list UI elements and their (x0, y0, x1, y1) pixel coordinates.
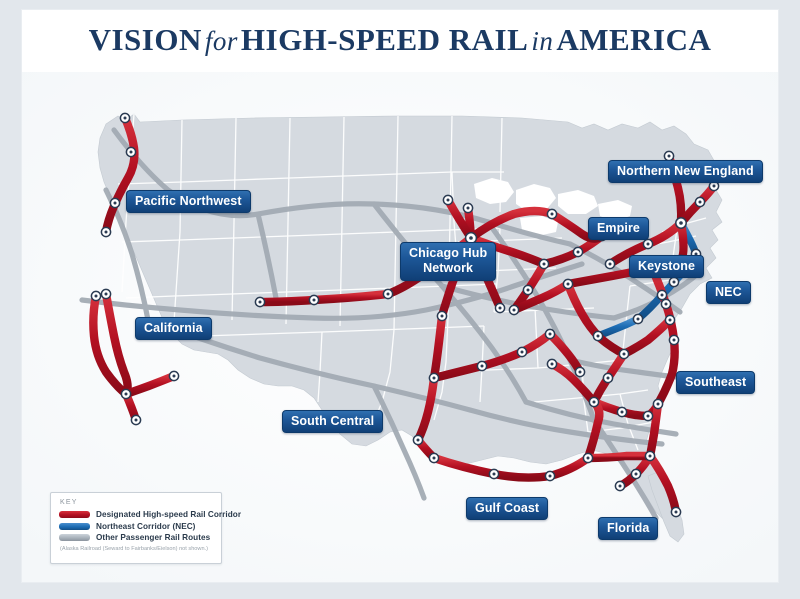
legend-swatch-red-icon (59, 511, 90, 518)
title-word-highspeedrail: HIGH-SPEED RAIL (241, 22, 528, 57)
legend-label-other: Other Passenger Rail Routes (96, 533, 210, 542)
corridor-label-gulf-coast[interactable]: Gulf Coast (466, 497, 548, 520)
map-legend: KEY Designated High-speed Rail Corridor … (50, 492, 222, 564)
title-word-for: for (202, 26, 241, 56)
corridor-label-south-central[interactable]: South Central (282, 410, 383, 433)
legend-row-hsr: Designated High-speed Rail Corridor (59, 510, 214, 519)
corridor-label-empire[interactable]: Empire (588, 217, 649, 240)
legend-heading: KEY (60, 499, 214, 506)
title-bar: VISIONforHIGH-SPEED RAILinAMERICA (22, 10, 778, 72)
corridor-label-chicago-hub-network[interactable]: Chicago Hub Network (400, 242, 496, 281)
legend-swatch-gray-icon (59, 534, 90, 541)
legend-label-nec: Northeast Corridor (NEC) (96, 522, 195, 531)
corridor-gulf-east (588, 456, 650, 458)
corridor-label-southeast[interactable]: Southeast (676, 371, 755, 394)
poster: VISIONforHIGH-SPEED RAILinAMERICA (22, 10, 778, 582)
legend-footnote: (Alaska Railroad (Seward to Fairbanks/Ei… (60, 546, 214, 552)
corridor-label-keystone[interactable]: Keystone (629, 255, 704, 278)
corridor-label-northern-new-england[interactable]: Northern New England (608, 160, 763, 183)
title-word-america: AMERICA (556, 22, 711, 57)
legend-swatch-blue-icon (59, 523, 90, 530)
corridor-label-florida[interactable]: Florida (598, 517, 658, 540)
legend-row-other: Other Passenger Rail Routes (59, 533, 214, 542)
us-rail-map: Pacific Northwest California Chicago Hub… (22, 72, 778, 582)
corridor-label-nec[interactable]: NEC (706, 281, 751, 304)
page-title: VISIONforHIGH-SPEED RAILinAMERICA (22, 22, 778, 58)
corridor-label-california[interactable]: California (135, 317, 212, 340)
title-word-in: in (528, 26, 556, 56)
legend-label-hsr: Designated High-speed Rail Corridor (96, 510, 241, 519)
corridor-label-pacific-northwest[interactable]: Pacific Northwest (126, 190, 251, 213)
title-word-vision: VISION (89, 22, 202, 57)
legend-row-nec: Northeast Corridor (NEC) (59, 522, 214, 531)
